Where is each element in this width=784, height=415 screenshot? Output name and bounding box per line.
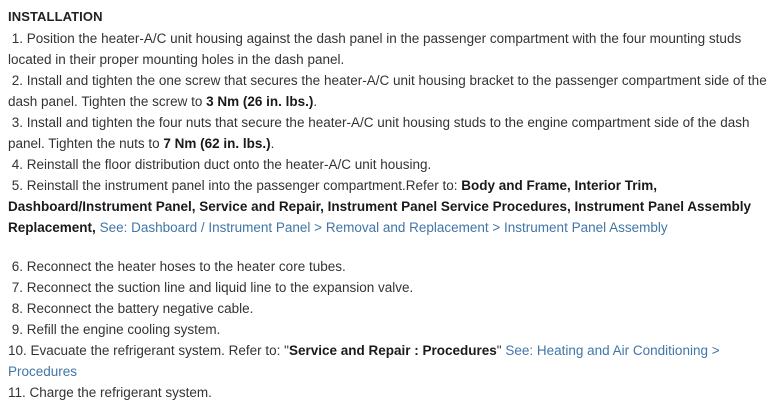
step-number: 2. — [8, 73, 23, 88]
procedure-step: 5. Reinstall the instrument panel into t… — [8, 175, 780, 238]
step-number: 7. — [8, 280, 23, 295]
step-emphasis-text: Service and Repair : Procedures — [289, 343, 497, 358]
step-text: Reconnect the suction line and liquid li… — [23, 280, 413, 295]
step-number: 10. — [8, 343, 27, 358]
section-spacer — [8, 238, 780, 256]
page-title: INSTALLATION — [8, 8, 780, 25]
step-number: 4. — [8, 157, 23, 172]
procedure-step-list: 1. Position the heater-A/C unit housing … — [8, 28, 780, 403]
procedure-step: 9. Refill the engine cooling system. — [8, 319, 780, 340]
step-number: 1. — [8, 31, 23, 46]
step-text: Install and tighten the one screw that s… — [8, 73, 767, 109]
step-text: . — [313, 94, 317, 109]
procedure-step: 11. Charge the refrigerant system. — [8, 382, 780, 403]
step-text: . — [271, 136, 275, 151]
procedure-step: 1. Position the heater-A/C unit housing … — [8, 28, 780, 70]
step-number: 9. — [8, 322, 23, 337]
step-text: Reconnect the battery negative cable. — [23, 301, 253, 316]
step-number: 8. — [8, 301, 23, 316]
procedure-step: 6. Reconnect the heater hoses to the hea… — [8, 256, 780, 277]
step-number: 3. — [8, 115, 23, 130]
procedure-step: 4. Reinstall the floor distribution duct… — [8, 154, 780, 175]
step-text: Evacuate the refrigerant system. Refer t… — [27, 343, 289, 358]
step-number: 5. — [8, 178, 23, 193]
installation-procedure-document: INSTALLATION 1. Position the heater-A/C … — [0, 0, 784, 403]
procedure-step: 7. Reconnect the suction line and liquid… — [8, 277, 780, 298]
step-text: Reinstall the instrument panel into the … — [23, 178, 461, 193]
step-text: Reconnect the heater hoses to the heater… — [23, 259, 346, 274]
step-text: Position the heater-A/C unit housing aga… — [8, 31, 741, 67]
step-emphasis-text: 7 Nm (62 in. lbs.) — [163, 136, 270, 151]
step-text: Charge the refrigerant system. — [26, 385, 212, 400]
procedure-step: 8. Reconnect the battery negative cable. — [8, 298, 780, 319]
step-emphasis-text: 3 Nm (26 in. lbs.) — [206, 94, 313, 109]
step-number: 11. — [8, 385, 26, 400]
step-number: 6. — [8, 259, 23, 274]
procedure-step: 2. Install and tighten the one screw tha… — [8, 70, 780, 112]
step-text: Install and tighten the four nuts that s… — [8, 115, 749, 151]
procedure-step: 10. Evacuate the refrigerant system. Ref… — [8, 340, 780, 382]
step-text: Refill the engine cooling system. — [23, 322, 220, 337]
procedure-step: 3. Install and tighten the four nuts tha… — [8, 112, 780, 154]
cross-reference-link[interactable]: See: Dashboard / Instrument Panel > Remo… — [100, 220, 668, 235]
step-text: Reinstall the floor distribution duct on… — [23, 157, 431, 172]
